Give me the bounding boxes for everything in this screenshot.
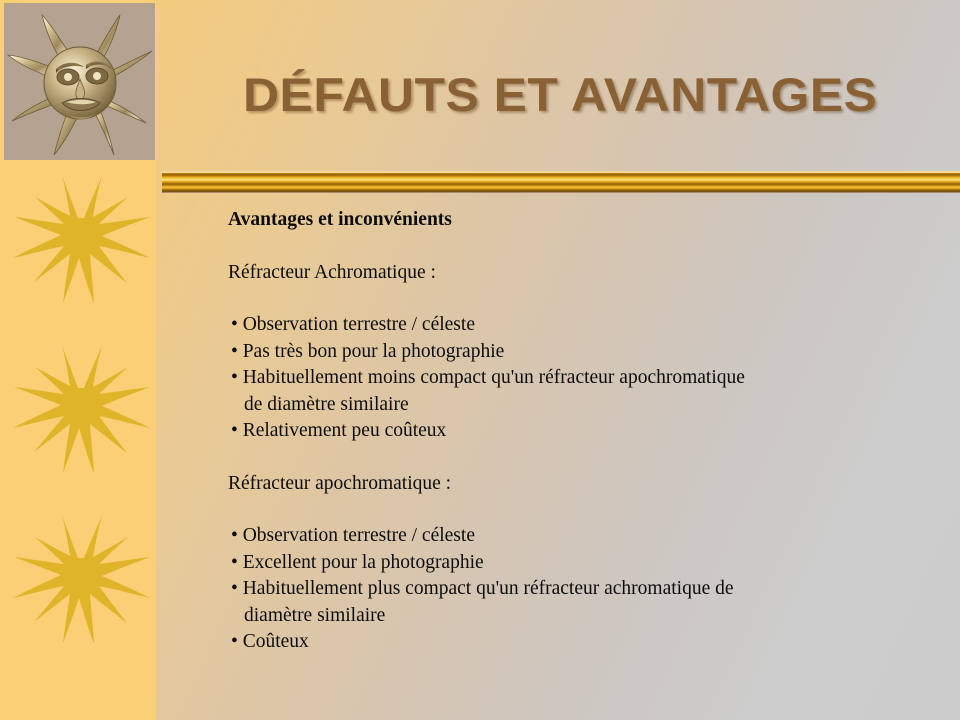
page-title: DÉFAUTS ET AVANTAGES xyxy=(243,67,877,122)
body-bullet-continuation: de diamètre similaire xyxy=(228,392,928,419)
body-bullet-item: • Pas très bon pour la photographie xyxy=(228,339,928,366)
body-bullet-item: • Habituellement plus compact qu'un réfr… xyxy=(228,576,928,603)
body-bullet-item: • Observation terrestre / céleste xyxy=(228,312,928,339)
body-bullet-item: • Relativement peu coûteux xyxy=(228,418,928,445)
body-bullet-item: • Excellent pour la photographie xyxy=(228,550,928,577)
body-bullet-item: • Coûteux xyxy=(228,629,928,656)
body-subheading: Réfracteur Achromatique : xyxy=(228,260,928,287)
sun-face-logo-tile xyxy=(4,3,155,160)
body-bullet-continuation: diamètre similaire xyxy=(228,603,928,630)
title-divider-rule xyxy=(162,171,960,193)
body-subheading: Réfracteur apochromatique : xyxy=(228,471,928,498)
sun-face-icon xyxy=(4,3,155,160)
body-heading: Avantages et inconvénients xyxy=(228,207,928,234)
sun-burst-icon xyxy=(4,342,152,502)
slide-body-content: Avantages et inconvénients Réfracteur Ac… xyxy=(228,207,928,656)
body-bullet-item: • Habituellement moins compact qu'un réf… xyxy=(228,365,928,392)
body-spacer xyxy=(228,497,928,523)
body-spacer xyxy=(228,234,928,260)
presentation-slide: DÉFAUTS ET AVANTAGES Avantages et inconv… xyxy=(0,0,960,720)
sun-burst-icon xyxy=(4,172,152,332)
title-container: DÉFAUTS ET AVANTAGES xyxy=(168,58,952,130)
body-spacer xyxy=(228,286,928,312)
sun-burst-icon xyxy=(4,512,152,672)
body-bullet-item: • Observation terrestre / céleste xyxy=(228,523,928,550)
body-spacer xyxy=(228,445,928,471)
